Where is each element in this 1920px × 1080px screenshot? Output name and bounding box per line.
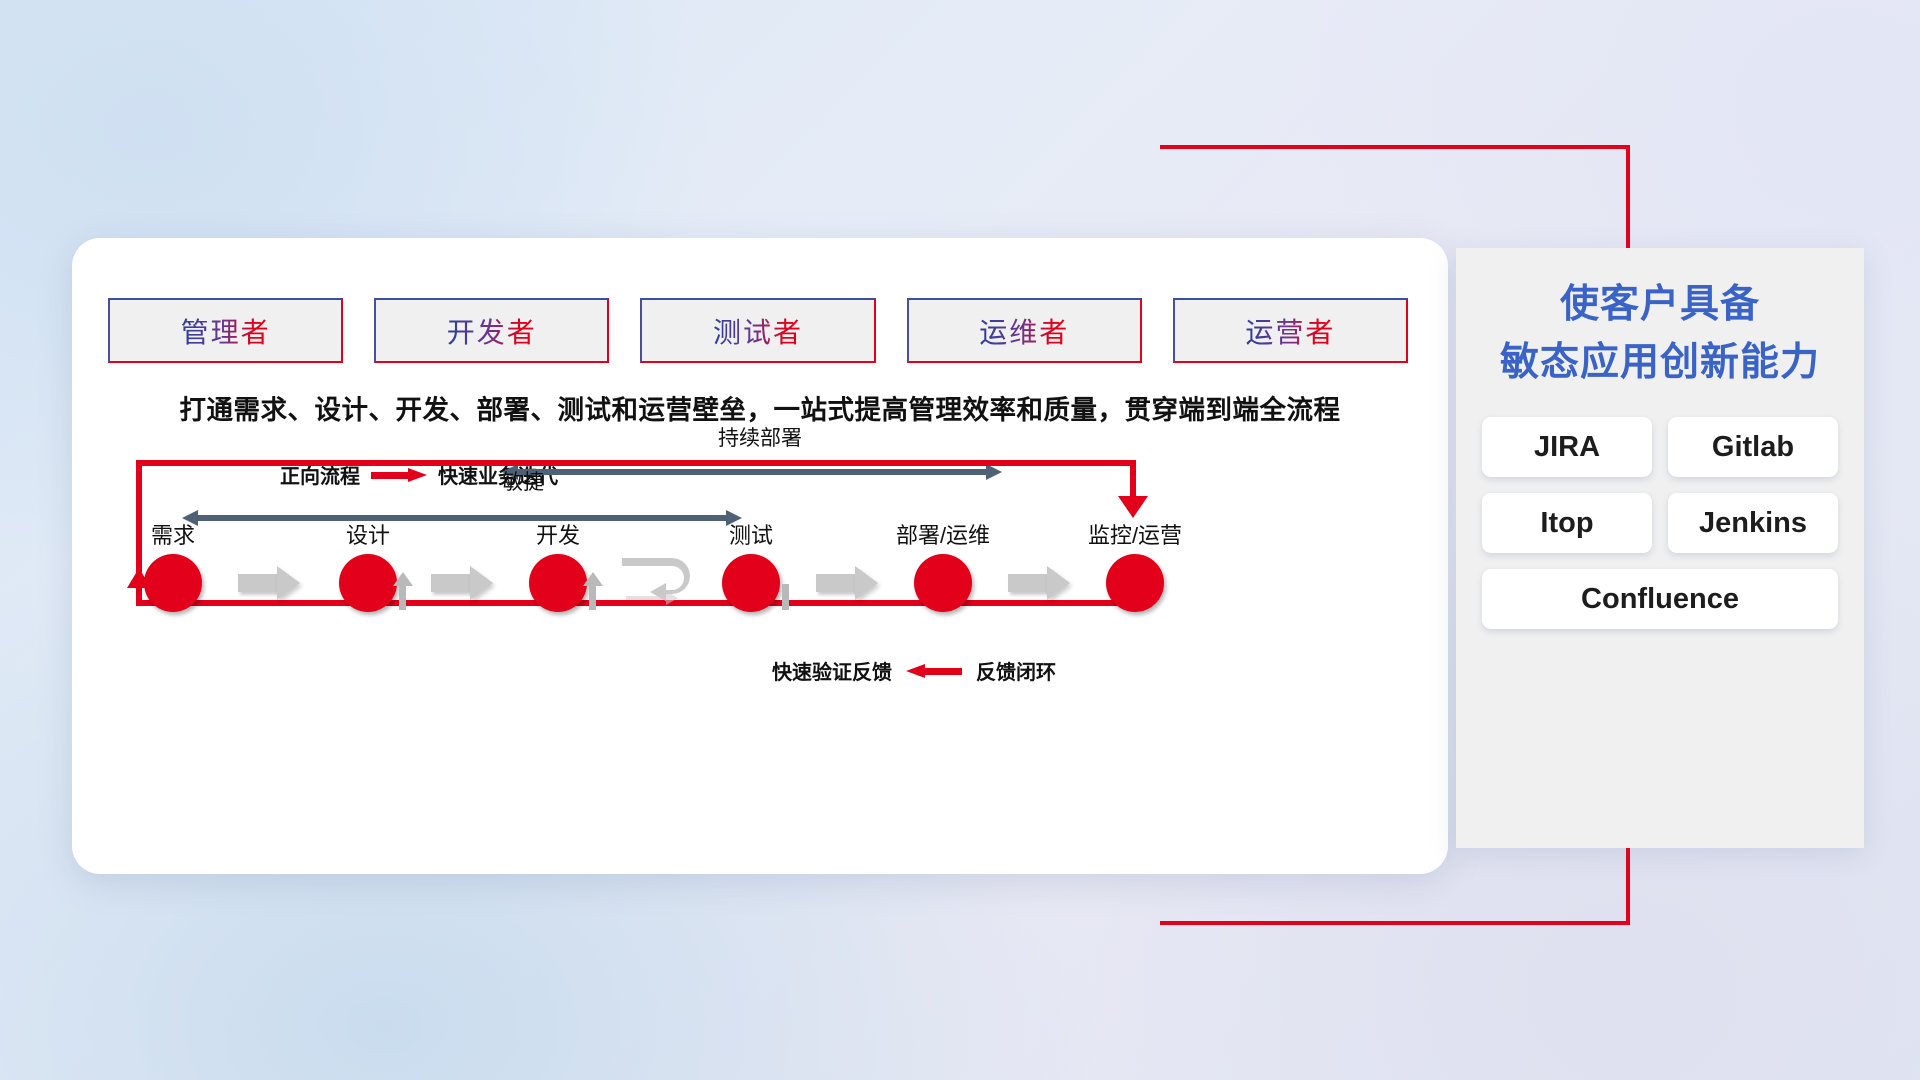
stage-label: 监控/运营	[1070, 518, 1200, 550]
role-box-tester[interactable]: 测试者	[640, 298, 875, 363]
pipeline-connector-chevron	[238, 566, 300, 600]
feedback-loop-top-edge	[136, 460, 1136, 466]
stage-dot	[144, 554, 202, 612]
role-box-developer[interactable]: 开发者	[374, 298, 609, 363]
feedback-target-label: 反馈闭环	[976, 656, 1056, 685]
chevron-right-icon	[1047, 566, 1070, 600]
tool-chip-confluence[interactable]: Confluence	[1482, 569, 1838, 629]
role-box-row: 管理者 开发者 测试者 运维者 运营者	[108, 298, 1408, 363]
stage-label: 开发	[493, 518, 623, 550]
feedback-stem	[589, 584, 596, 610]
feedback-source-label: 快速验证反馈	[772, 656, 892, 685]
pipeline-stage-development[interactable]: 开发	[493, 518, 623, 612]
stage-dot	[1106, 554, 1164, 612]
measure-label-agile: 敏捷	[502, 466, 544, 496]
chevron-body	[431, 574, 471, 592]
role-label: 运维者	[979, 311, 1069, 351]
stage-dot	[529, 554, 587, 612]
measure-arrow-continuous-deploy	[502, 464, 1002, 480]
value-proposition-title-line1: 使客户具备	[1482, 276, 1838, 334]
feedback-stem-arrow-icon	[393, 572, 413, 586]
tool-chip-jenkins[interactable]: Jenkins	[1668, 493, 1838, 553]
pipeline-connector-chevron	[816, 566, 878, 600]
stage-label: 设计	[303, 518, 433, 550]
chevron-body	[238, 574, 278, 592]
feedback-stem	[399, 584, 406, 610]
stage-dot	[339, 554, 397, 612]
role-label: 测试者	[713, 311, 803, 351]
role-box-operations[interactable]: 运营者	[1173, 298, 1408, 363]
pipeline-connector-chevron	[1008, 566, 1070, 600]
stage-label: 需求	[108, 518, 238, 550]
feedback-loop-legend: 快速验证反馈 反馈闭环	[772, 656, 1056, 685]
chevron-right-icon	[277, 566, 300, 600]
stage-label: 测试	[686, 518, 816, 550]
pipeline-connector-chevron	[431, 566, 493, 600]
chevron-right-icon	[855, 566, 878, 600]
chevron-right-icon	[470, 566, 493, 600]
arrow-left-red-icon	[906, 664, 962, 678]
feedback-loop-right-edge	[1130, 460, 1136, 500]
pipeline-row: 需求 设计 开发	[108, 506, 1408, 626]
arrow-head-right-icon	[986, 464, 1002, 480]
role-box-manager[interactable]: 管理者	[108, 298, 343, 363]
stage-label: 部署/运维	[878, 518, 1008, 550]
chevron-body	[816, 574, 856, 592]
tool-chip-itop[interactable]: Itop	[1482, 493, 1652, 553]
tool-chip-jira[interactable]: JIRA	[1482, 417, 1652, 477]
main-content-card: 管理者 开发者 测试者 运维者 运营者 打通需求、设计、开发、部署、测试和运营壁…	[72, 238, 1448, 874]
role-label: 管理者	[181, 311, 271, 351]
pipeline-stage-design[interactable]: 设计	[303, 518, 433, 612]
role-box-ops[interactable]: 运维者	[907, 298, 1142, 363]
arrow-shaft	[517, 469, 987, 475]
slide-canvas: 管理者 开发者 测试者 运维者 运营者 打通需求、设计、开发、部署、测试和运营壁…	[0, 0, 1920, 1080]
feedback-stem-arrow-icon	[583, 572, 603, 586]
value-proposition-panel: 使客户具备 敏态应用创新能力 JIRA Gitlab Itop Jenkins …	[1456, 248, 1864, 848]
tool-chip-gitlab[interactable]: Gitlab	[1668, 417, 1838, 477]
pipeline-stage-testing[interactable]: 测试	[686, 518, 816, 612]
pipeline-stage-monitor-operations[interactable]: 监控/运营	[1070, 518, 1200, 612]
feedback-stem	[782, 584, 789, 610]
measure-label-continuous-deploy: 持续部署	[718, 422, 802, 452]
value-proposition-title: 使客户具备 敏态应用创新能力	[1482, 276, 1838, 391]
tool-chip-list: JIRA Gitlab Itop Jenkins Confluence	[1482, 417, 1838, 629]
value-proposition-title-line2: 敏态应用创新能力	[1482, 334, 1838, 392]
stage-dot	[914, 554, 972, 612]
chevron-body	[1008, 574, 1048, 592]
pipeline-stage-deploy-ops[interactable]: 部署/运维	[878, 518, 1008, 612]
arrow-right-red-icon	[371, 468, 427, 482]
pipeline-stage-requirement[interactable]: 需求	[108, 518, 238, 612]
role-label: 运营者	[1245, 311, 1335, 351]
role-label: 开发者	[447, 311, 537, 351]
stage-dot	[722, 554, 780, 612]
